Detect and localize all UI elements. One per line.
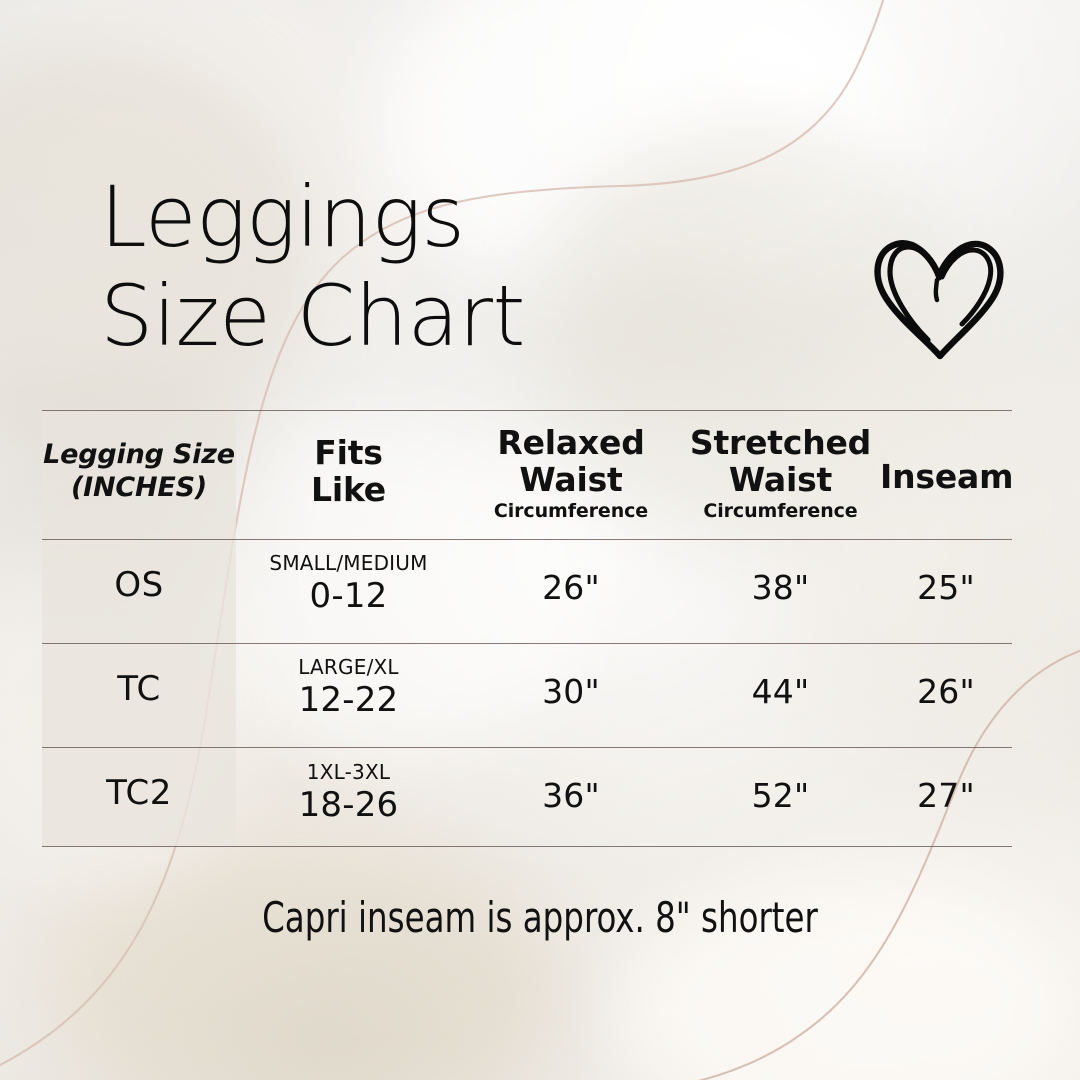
fits-range-label: 12-22 bbox=[236, 680, 461, 721]
header-relaxed-waist-line2: Waist bbox=[519, 460, 622, 499]
table-row: LARGE/XL 12-22 bbox=[236, 656, 461, 721]
table-row: 38" bbox=[681, 568, 880, 607]
header-stretched-waist-line1: Stretched bbox=[690, 423, 871, 462]
header-legging-size-label: Legging Size bbox=[43, 439, 235, 470]
page-title: Leggings Size Chart bbox=[100, 168, 525, 366]
header-relaxed-waist-sub: Circumference bbox=[461, 500, 681, 523]
fits-range-label: 0-12 bbox=[236, 576, 461, 617]
header-relaxed-waist-line1: Relaxed bbox=[497, 423, 644, 462]
table-row: 52" bbox=[681, 776, 880, 815]
table-row: 26" bbox=[461, 568, 681, 607]
table-row: OS bbox=[42, 565, 236, 605]
header-legging-size: Legging Size (INCHES) bbox=[42, 439, 236, 505]
table-row: TC bbox=[42, 669, 236, 709]
table-rule-row2 bbox=[42, 747, 1012, 748]
table-row: 25" bbox=[880, 568, 1012, 607]
heart-doodle-icon bbox=[866, 228, 1016, 364]
fits-band-label: SMALL/MEDIUM bbox=[236, 552, 461, 574]
table-row: 26" bbox=[880, 672, 1012, 711]
size-table: Legging Size (INCHES) Fits Like Relaxed … bbox=[42, 410, 1012, 847]
table-row: 1XL-3XL 18-26 bbox=[236, 761, 461, 826]
footer-note: Capri inseam is approx. 8" shorter bbox=[76, 893, 1005, 942]
header-legging-size-units: (INCHES) bbox=[71, 472, 207, 503]
table-row: 36" bbox=[461, 776, 681, 815]
table-row: 30" bbox=[461, 672, 681, 711]
header-stretched-waist-sub: Circumference bbox=[681, 500, 880, 523]
table-row: 27" bbox=[880, 776, 1012, 815]
fits-band-label: 1XL-3XL bbox=[236, 761, 461, 783]
fits-range-label: 18-26 bbox=[236, 785, 461, 826]
table-row: 44" bbox=[681, 672, 880, 711]
header-fits-like-line2: Like bbox=[311, 470, 386, 509]
header-inseam: Inseam bbox=[880, 458, 1012, 495]
header-fits-like-line1: Fits bbox=[314, 433, 382, 472]
table-row: TC2 bbox=[42, 773, 236, 813]
size-chart-canvas: Leggings Size Chart Legging Size (INCHES… bbox=[0, 0, 1080, 1080]
table-row: SMALL/MEDIUM 0-12 bbox=[236, 552, 461, 617]
header-relaxed-waist: Relaxed Waist Circumference bbox=[461, 424, 681, 522]
table-rule-header bbox=[42, 539, 1012, 540]
header-stretched-waist-line2: Waist bbox=[729, 460, 832, 499]
header-fits-like: Fits Like bbox=[236, 434, 461, 509]
table-rule-row1 bbox=[42, 643, 1012, 644]
fits-band-label: LARGE/XL bbox=[236, 656, 461, 678]
header-stretched-waist: Stretched Waist Circumference bbox=[681, 424, 880, 522]
table-rule-bottom bbox=[42, 846, 1012, 847]
table-rule-top bbox=[42, 410, 1012, 411]
